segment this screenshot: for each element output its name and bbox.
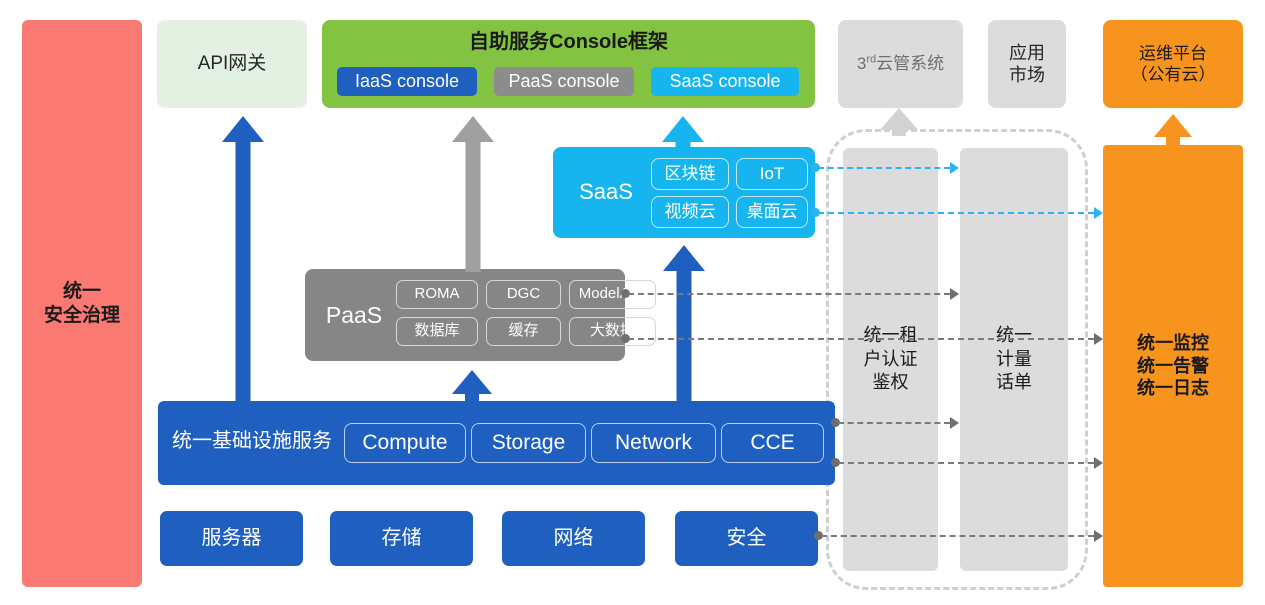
infra-chip-cce[interactable]: CCE	[721, 423, 824, 463]
connector-arrowhead-infra-ops	[1094, 457, 1103, 469]
resource-label-storage: 存储	[382, 526, 422, 551]
third-party-cloud-mgmt-label: 3rd云管系统	[857, 53, 944, 74]
unified-infrastructure-label: 统一基础设施服务	[172, 429, 332, 454]
arrow-infra-to-paas	[452, 370, 492, 404]
infra-chip-storage[interactable]: Storage	[471, 423, 586, 463]
arrow-infra-to-api-gateway	[222, 116, 264, 404]
unified-infrastructure-bar[interactable]: 统一基础设施服务 Compute Storage Network CCE	[158, 401, 835, 485]
saas-console-chip[interactable]: SaaS console	[651, 67, 799, 96]
resource-label-security: 安全	[727, 526, 767, 551]
arrow-shared-to-third-party	[880, 108, 918, 134]
iaas-console-chip[interactable]: IaaS console	[337, 67, 477, 96]
resource-box-security[interactable]: 安全	[675, 511, 818, 566]
app-market-box[interactable]: 应用 市场	[988, 20, 1066, 108]
connector-paas-to-ops	[628, 338, 1094, 340]
saas-chip-iot[interactable]: IoT	[736, 158, 808, 190]
infra-chip-compute[interactable]: Compute	[344, 423, 466, 463]
saas-chip-desktop-cloud[interactable]: 桌面云	[736, 196, 808, 228]
connector-arrowhead-paas-ops	[1094, 333, 1103, 345]
self-service-console-frame[interactable]: 自助服务Console框架 IaaS console PaaS console …	[322, 20, 815, 108]
unified-security-governance-box[interactable]: 统一 安全治理	[22, 20, 142, 587]
architecture-diagram: 统一 安全治理 API网关 自助服务Console框架 IaaS console…	[0, 0, 1265, 605]
saas-chip-blockchain[interactable]: 区块链	[651, 158, 729, 190]
arrow-paas-to-console	[452, 116, 494, 272]
resource-box-server[interactable]: 服务器	[160, 511, 303, 566]
connector-saas-to-metering	[818, 167, 950, 169]
resource-box-storage[interactable]: 存储	[330, 511, 473, 566]
connector-arrowhead-security-ops	[1094, 530, 1103, 542]
api-gateway-label: API网关	[198, 52, 267, 76]
paas-chip-bigdata[interactable]: 大数据	[569, 317, 656, 346]
paas-chip-cache[interactable]: 缓存	[486, 317, 561, 346]
ops-platform-label: 运维平台 （公有云）	[1131, 43, 1216, 86]
arrow-saas-to-console	[662, 116, 704, 150]
ops-platform-public-cloud-box[interactable]: 运维平台 （公有云）	[1103, 20, 1243, 108]
arrow-ops-column-to-ops-platform	[1154, 114, 1192, 148]
paas-label: PaaS	[313, 301, 395, 330]
api-gateway-box[interactable]: API网关	[157, 20, 307, 108]
resource-box-network[interactable]: 网络	[502, 511, 645, 566]
connector-security-to-ops	[821, 535, 1094, 537]
connector-arrowhead-paas-metering	[950, 288, 959, 300]
console-frame-title: 自助服务Console框架	[322, 30, 815, 55]
connector-saas-to-ops	[818, 212, 1094, 214]
ops-monitoring-column[interactable]: 统一监控 统一告警 统一日志	[1103, 145, 1243, 587]
saas-label: SaaS	[563, 178, 649, 206]
paas-console-chip[interactable]: PaaS console	[494, 67, 634, 96]
saas-chip-video-cloud[interactable]: 视频云	[651, 196, 729, 228]
resource-label-server: 服务器	[202, 526, 262, 551]
infra-chip-network[interactable]: Network	[591, 423, 716, 463]
unified-security-governance-label: 统一 安全治理	[44, 280, 120, 328]
paas-chip-roma[interactable]: ROMA	[396, 280, 478, 309]
arrow-infra-to-saas	[663, 245, 705, 405]
paas-chip-database[interactable]: 数据库	[396, 317, 478, 346]
connector-infra-to-metering	[838, 422, 950, 424]
connector-infra-to-ops	[838, 462, 1094, 464]
connector-arrowhead-saas-ops	[1094, 207, 1103, 219]
ops-monitoring-label: 统一监控 统一告警 统一日志	[1137, 332, 1209, 400]
paas-chip-dgc[interactable]: DGC	[486, 280, 561, 309]
unified-tenant-auth-label: 统一租 户认证 鉴权	[864, 324, 918, 394]
paas-box[interactable]: PaaS ROMA DGC ModelArts 数据库 缓存 大数据	[305, 269, 625, 361]
connector-paas-to-metering	[628, 293, 950, 295]
connector-arrowhead-saas-metering	[950, 162, 959, 174]
resource-label-network: 网络	[554, 526, 594, 551]
app-market-label: 应用 市场	[1009, 42, 1045, 87]
unified-metering-label: 统一 计量 话单	[996, 324, 1032, 394]
third-party-cloud-mgmt-box[interactable]: 3rd云管系统	[838, 20, 963, 108]
connector-arrowhead-infra-metering	[950, 417, 959, 429]
ordinal-superscript: rd	[866, 54, 876, 66]
saas-box[interactable]: SaaS 区块链 IoT 视频云 桌面云	[553, 147, 815, 238]
